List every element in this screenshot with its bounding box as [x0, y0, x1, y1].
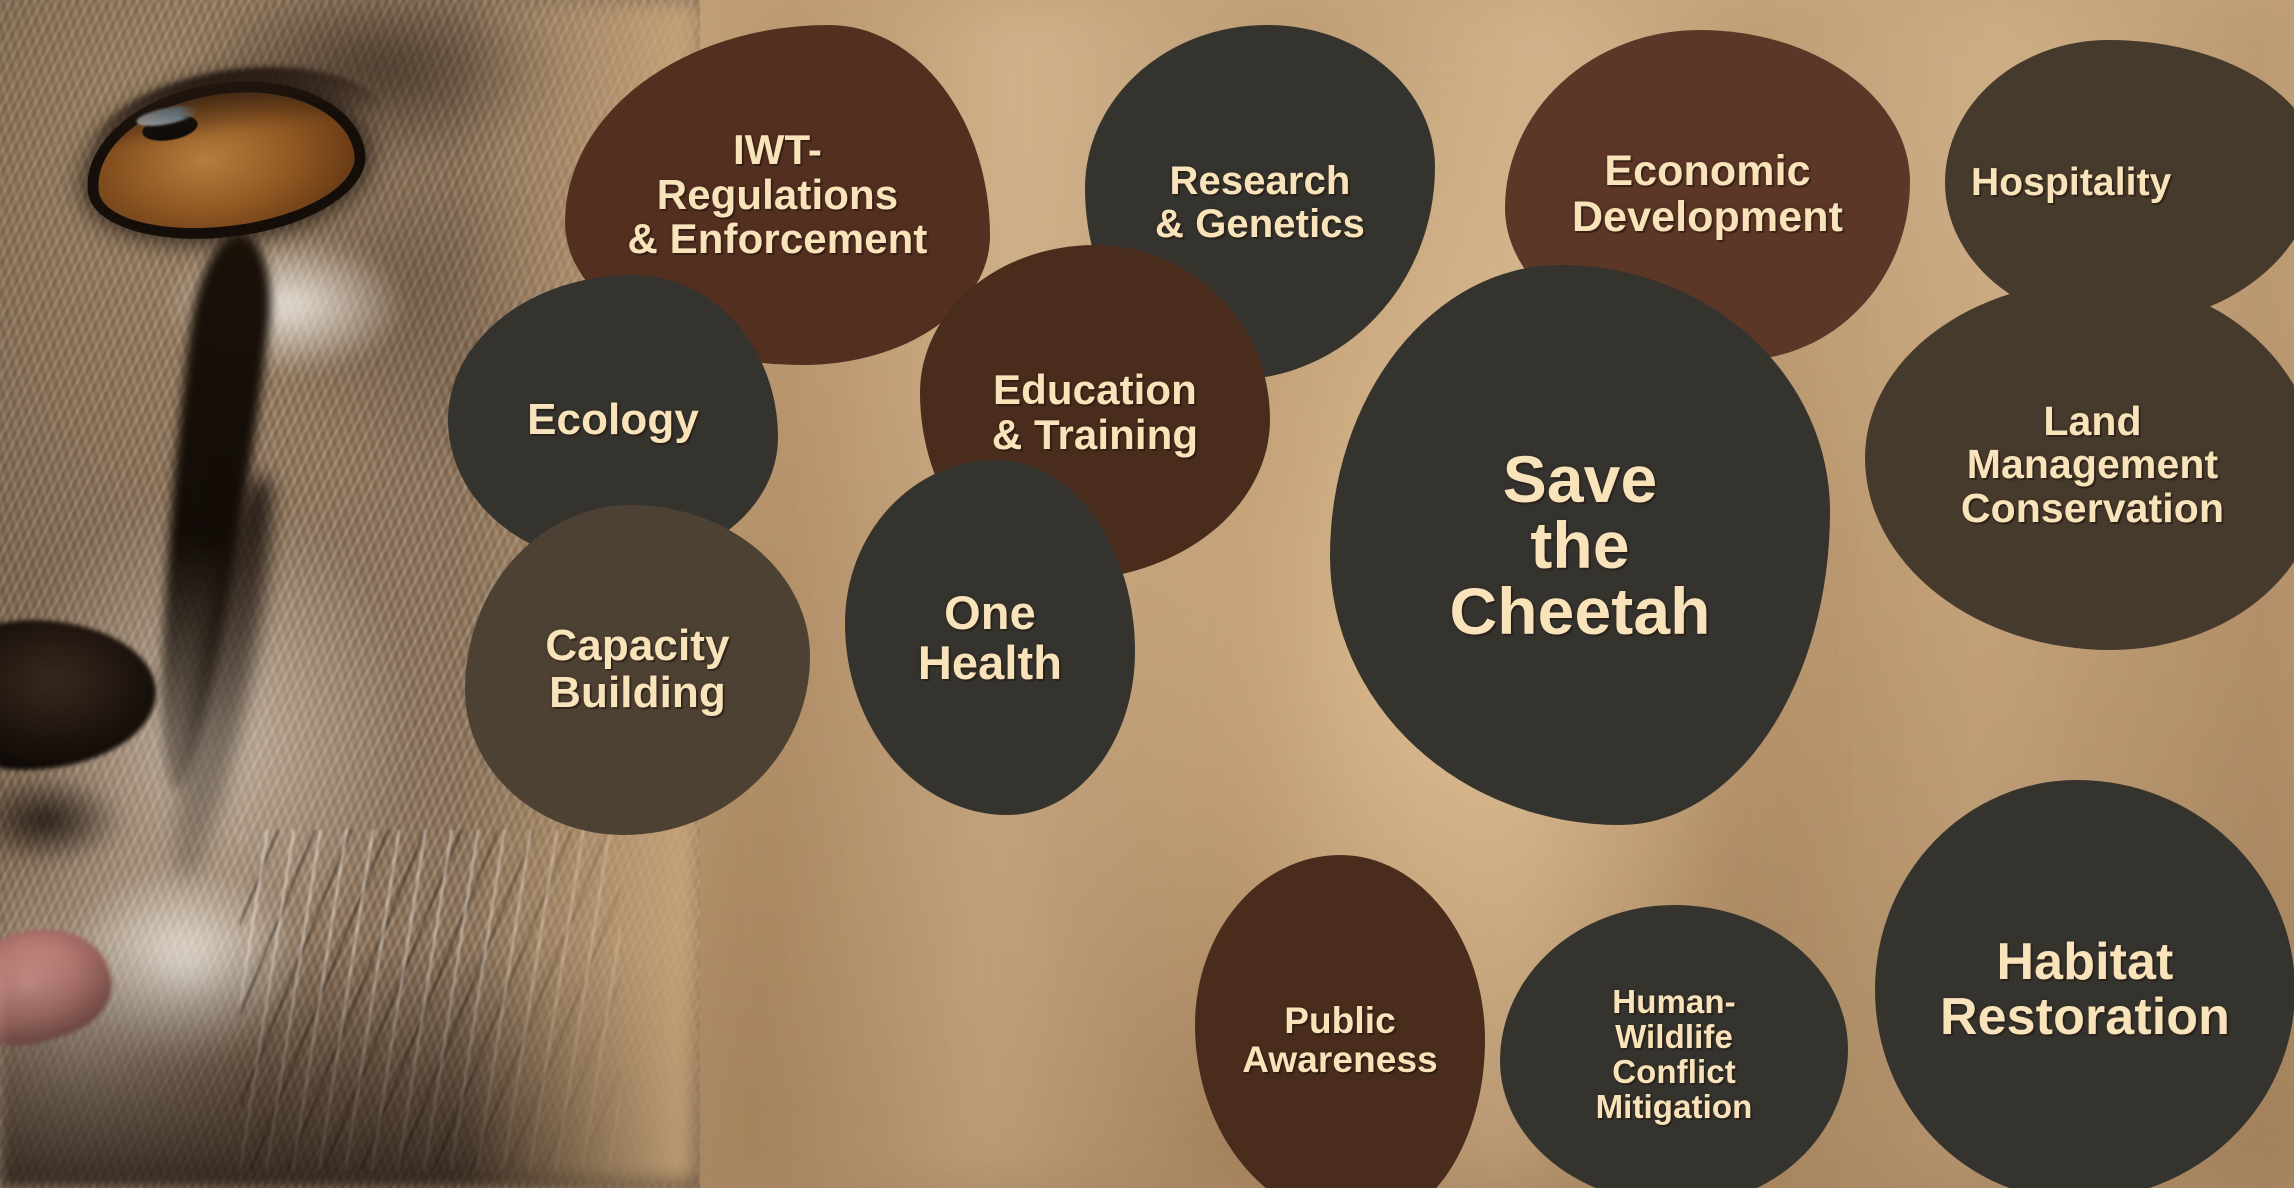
- blob-line: Habitat: [1940, 935, 2230, 990]
- blob-line: Building: [545, 670, 729, 717]
- blob-line: Land: [1961, 400, 2224, 443]
- blob-line: Capacity: [545, 623, 729, 670]
- blob-line: & Enforcement: [627, 217, 927, 262]
- blob-line: Conflict: [1596, 1055, 1753, 1090]
- blob-line: Education: [992, 368, 1198, 413]
- blob-line: & Training: [992, 413, 1198, 458]
- blob-line: One: [918, 588, 1062, 638]
- blob-line: & Genetics: [1155, 203, 1365, 245]
- blob-line: Awareness: [1242, 1040, 1438, 1079]
- blob-line: Mitigation: [1596, 1090, 1753, 1125]
- blob-line: Hospitality: [1971, 162, 2171, 203]
- blob-line: Wildlife: [1596, 1020, 1753, 1055]
- blob-line: Management: [1961, 443, 2224, 486]
- center-line: Save: [1449, 446, 1710, 512]
- blob-line: Economic: [1572, 149, 1843, 195]
- blob-line: Public: [1242, 1001, 1438, 1040]
- blob-line: Human-: [1596, 985, 1753, 1020]
- blob-line: Restoration: [1940, 990, 2230, 1045]
- blob-line: Conservation: [1961, 487, 2224, 530]
- blob-line: Health: [918, 638, 1062, 688]
- blob-habitat-restoration[interactable]: Habitat Restoration: [1875, 780, 2294, 1188]
- blob-line: Research: [1155, 160, 1365, 202]
- blob-line: Ecology: [527, 397, 699, 444]
- center-line: Cheetah: [1449, 578, 1710, 644]
- blob-line: Development: [1572, 195, 1843, 241]
- blob-line: IWT-: [627, 128, 927, 173]
- blob-line: Regulations: [627, 173, 927, 218]
- center-line: the: [1449, 512, 1710, 578]
- cheetah-conservation-graphic: IWT- Regulations & Enforcement Research …: [0, 0, 2294, 1188]
